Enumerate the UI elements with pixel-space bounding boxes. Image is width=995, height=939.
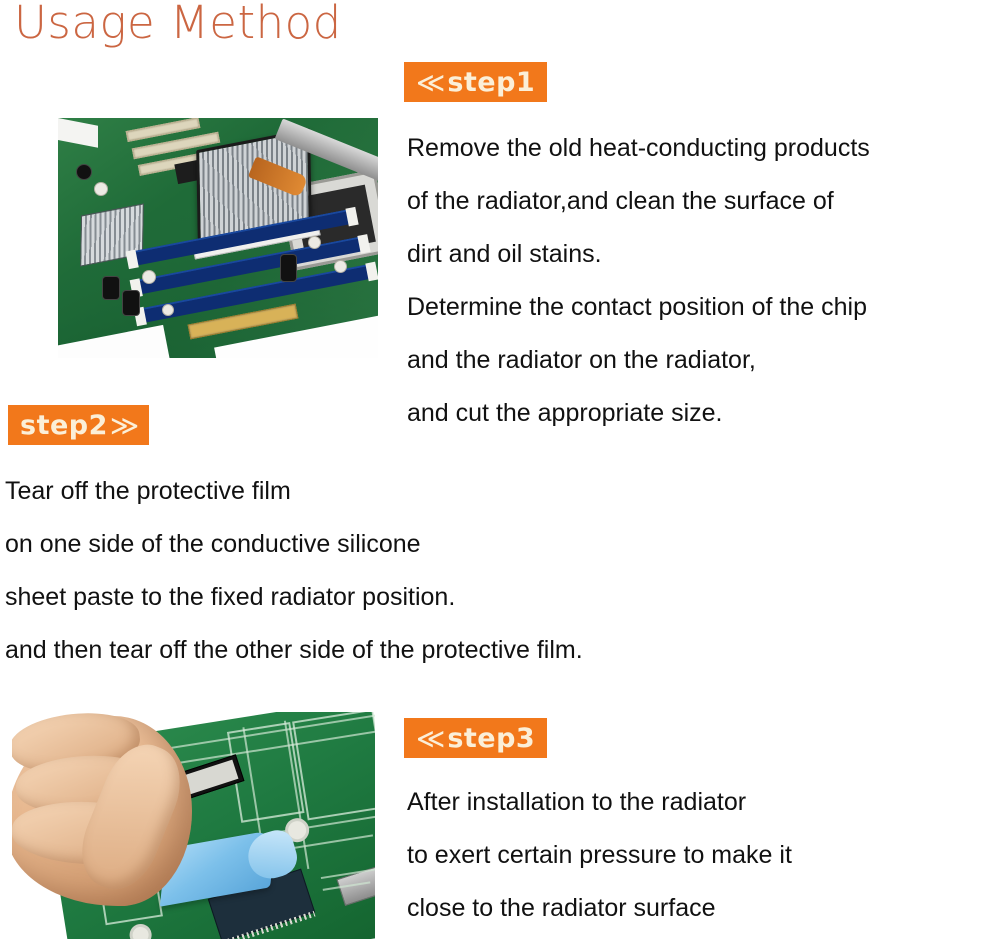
step1-line-3: dirt and oil stains. <box>407 228 870 281</box>
step3-badge-label: step3 <box>447 723 535 754</box>
step2-line-3: sheet paste to the fixed radiator positi… <box>5 571 583 624</box>
step3-line-2: to exert certain pressure to make it <box>407 829 792 882</box>
chevron-left-icon: ≪ <box>416 722 443 755</box>
step1-badge: ≪step1 <box>404 62 547 102</box>
step2-line-2: on one side of the conductive silicone <box>5 518 583 571</box>
step1-line-2: of the radiator,and clean the surface of <box>407 175 870 228</box>
step1-line-5: and the radiator on the radiator, <box>407 334 870 387</box>
step1-badge-label: step1 <box>447 67 535 98</box>
step3-line-1: After installation to the radiator <box>407 776 792 829</box>
step2-badge: step2≫ <box>8 405 149 445</box>
step3-photo-thermal-pad-application <box>12 712 375 939</box>
usage-method-infographic: Usage Method ≪step1 <box>0 0 995 939</box>
step2-text: Tear off the protective film on one side… <box>5 465 583 677</box>
step2-line-4: and then tear off the other side of the … <box>5 624 583 677</box>
step1-text: Remove the old heat-conducting products … <box>407 122 870 440</box>
step1-line-6: and cut the appropriate size. <box>407 387 870 440</box>
step2-badge-label: step2 <box>20 410 108 441</box>
step1-line-4: Determine the contact position of the ch… <box>407 281 870 334</box>
page-title: Usage Method <box>14 0 342 48</box>
step3-text: After installation to the radiator to ex… <box>407 776 792 935</box>
step1-line-1: Remove the old heat-conducting products <box>407 122 870 175</box>
chevron-left-icon: ≪ <box>416 66 443 99</box>
chevron-right-icon: ≫ <box>110 409 137 442</box>
step1-photo-motherboard-cleaning <box>58 118 378 358</box>
step2-line-1: Tear off the protective film <box>5 465 583 518</box>
step3-badge: ≪step3 <box>404 718 547 758</box>
step3-line-3: close to the radiator surface <box>407 882 792 935</box>
